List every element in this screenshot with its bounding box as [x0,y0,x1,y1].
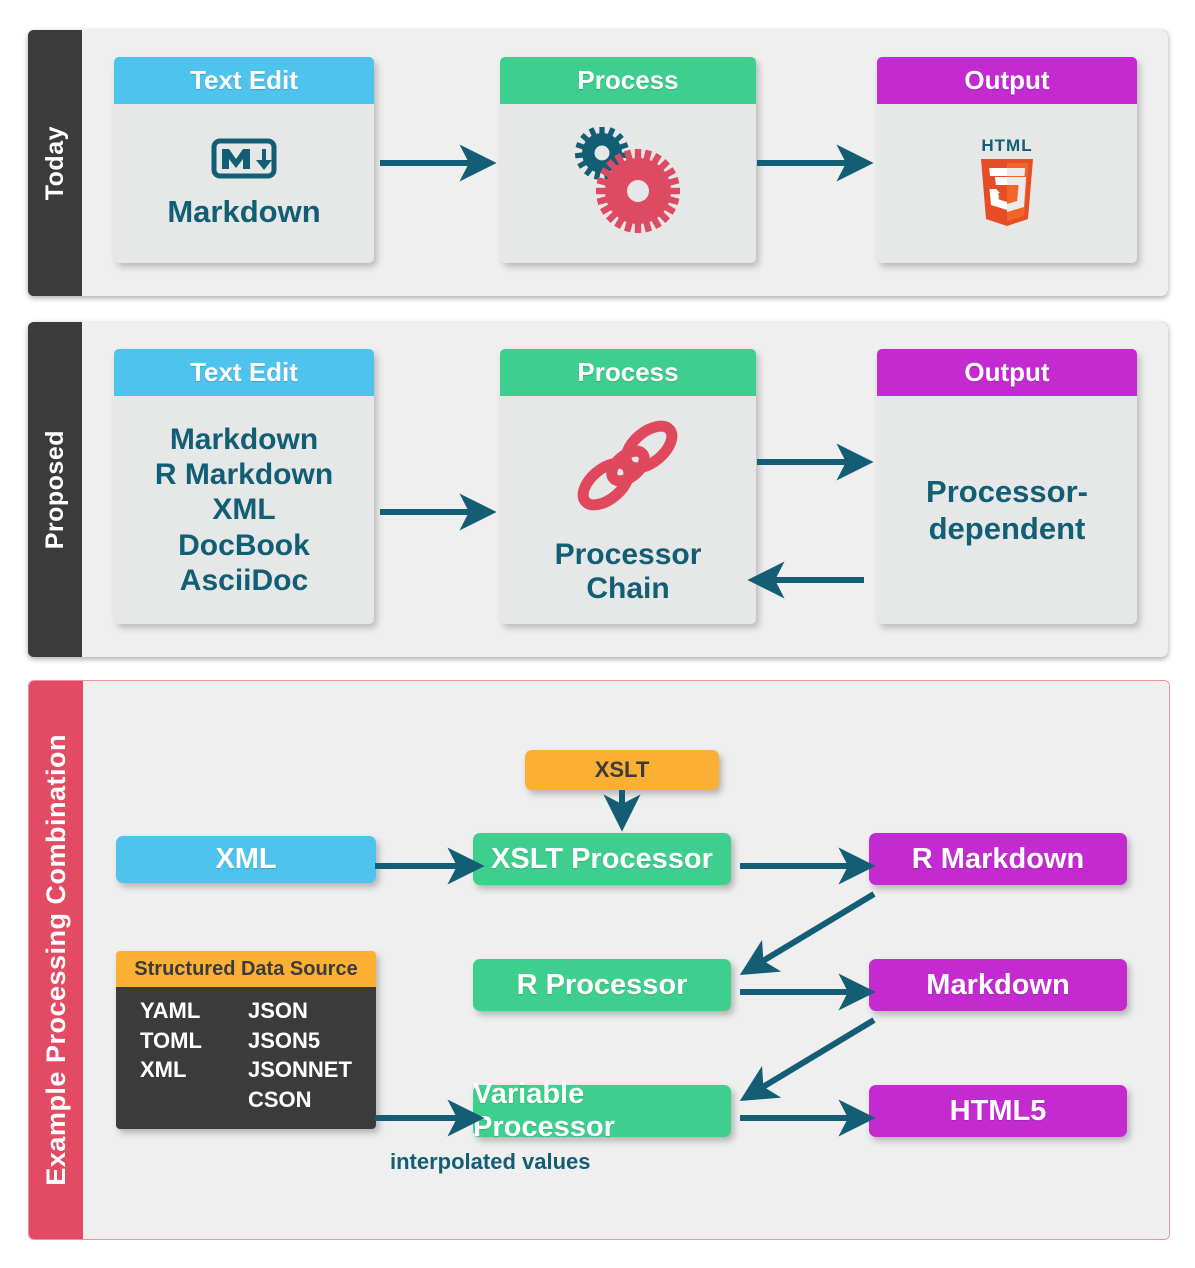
output-html5-box: HTML5 [869,1085,1127,1137]
today-process-title: Process [500,57,756,104]
proposed-output-title: Output [877,349,1137,396]
structured-source-column-2: JSON JSON5 JSONNET CSON [244,996,352,1125]
proposed-output-label: Processor- dependent [926,473,1088,547]
html5-logo-icon: HTML [967,131,1047,236]
gears-icon [572,127,684,240]
structured-data-source-box: Structured Data Source YAML TOML XML JSO… [116,951,376,1129]
panel-today-rail-label: Today [41,126,70,200]
structured-data-source-title: Structured Data Source [116,951,376,987]
xml-source-box: XML [116,836,376,883]
proposed-output-body: Processor- dependent [877,396,1137,624]
diagram-root: Today Text Edit Markdown [0,0,1195,1268]
proposed-text-edit-title: Text Edit [114,349,374,396]
today-markdown-label: Markdown [167,194,320,230]
panel-proposed-rail: Proposed [28,322,82,657]
panel-proposed-body: Text Edit Markdown R Markdown XML DocBoo… [82,322,1168,657]
chain-icon [568,414,688,524]
interpolated-values-caption: interpolated values [390,1149,591,1175]
source-format: CSON [248,1085,352,1115]
svg-text:HTML: HTML [981,136,1032,155]
output-r-markdown-box: R Markdown [869,833,1127,885]
structured-data-source-body: YAML TOML XML JSON JSON5 JSONNET CSON [116,987,376,1129]
today-text-edit-title: Text Edit [114,57,374,104]
panel-example-rail: Example Processing Combination [29,681,83,1239]
processor-variable-box: Variable Processor [473,1085,731,1137]
proposed-text-edit-body: Markdown R Markdown XML DocBook AsciiDoc [114,396,374,624]
format-item: R Markdown [155,457,333,492]
structured-source-column-1: YAML TOML XML [116,996,244,1125]
format-item: DocBook [155,528,333,563]
today-text-edit-card: Text Edit Markdown [114,57,374,263]
panel-proposed-rail-label: Proposed [41,430,70,549]
output-label-line2: dependent [926,510,1088,547]
today-process-body [500,104,756,263]
panel-today: Today Text Edit Markdown [28,30,1168,296]
today-output-card: Output HTML [877,57,1137,263]
proposed-output-card: Output Processor- dependent [877,349,1137,624]
output-markdown-box: Markdown [869,959,1127,1011]
proposed-text-edit-card: Text Edit Markdown R Markdown XML DocBoo… [114,349,374,624]
source-format: JSONNET [248,1055,352,1085]
panel-example-rail-label: Example Processing Combination [41,734,72,1186]
format-item: XML [155,492,333,527]
proposed-process-body: Processor Chain [500,396,756,624]
output-label-line1: Processor- [926,473,1088,510]
process-label-line2: Chain [555,572,702,606]
processor-r-box: R Processor [473,959,731,1011]
markdown-icon [211,138,277,184]
source-format: JSON [248,996,352,1026]
panel-example: Example Processing Combination XSLT XML … [28,680,1170,1240]
panel-today-body: Text Edit Markdown Process [82,30,1168,296]
today-process-card: Process [500,57,756,263]
source-format: JSON5 [248,1026,352,1056]
process-label-line1: Processor [555,538,702,572]
format-item: AsciiDoc [155,563,333,598]
format-item: Markdown [155,422,333,457]
processor-xslt-box: XSLT Processor [473,833,731,885]
panel-example-body: XSLT XML Structured Data Source YAML TOM… [83,681,1169,1239]
source-format: TOML [140,1026,244,1056]
proposed-process-title: Process [500,349,756,396]
proposed-process-card: Process Processor Chain [500,349,756,624]
panel-today-rail: Today [28,30,82,296]
source-format: YAML [140,996,244,1026]
today-output-title: Output [877,57,1137,104]
today-text-edit-body: Markdown [114,104,374,263]
xslt-stylesheet-box: XSLT [525,750,719,790]
source-format: XML [140,1055,244,1085]
proposed-process-label: Processor Chain [555,538,702,605]
format-list: Markdown R Markdown XML DocBook AsciiDoc [155,422,333,599]
today-output-body: HTML [877,104,1137,263]
panel-proposed: Proposed Text Edit Markdown R Markdown X… [28,322,1168,657]
